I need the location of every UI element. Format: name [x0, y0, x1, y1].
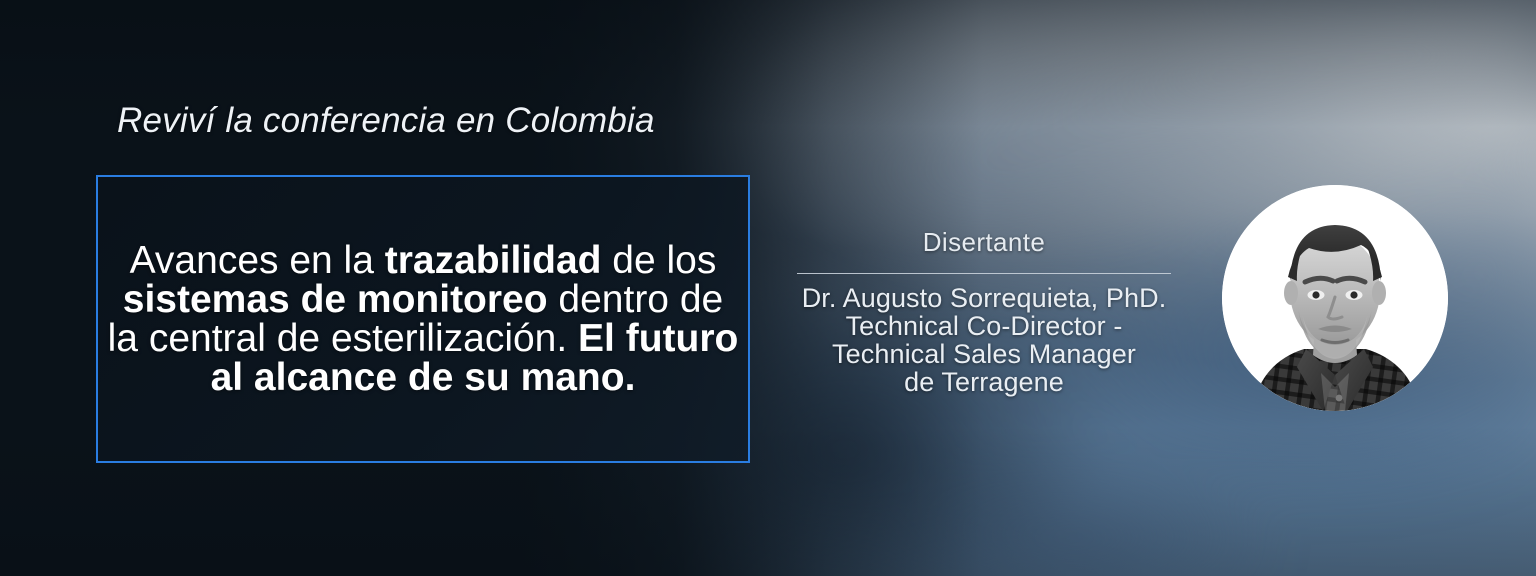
- speaker-divider: [797, 273, 1171, 274]
- speaker-details: Dr. Augusto Sorrequieta, PhD.Technical C…: [784, 284, 1184, 396]
- speaker-label: Disertante: [784, 228, 1184, 257]
- conference-banner: Reviví la conferencia en Colombia Avance…: [0, 0, 1536, 576]
- speaker-block: Disertante Dr. Augusto Sorrequieta, PhD.…: [784, 228, 1184, 396]
- portrait-illustration: [1222, 185, 1448, 411]
- kicker-text: Reviví la conferencia en Colombia: [117, 101, 655, 141]
- title-panel: Avances en la trazabilidad de los sistem…: [96, 175, 750, 463]
- title-text: Avances en la trazabilidad de los sistem…: [98, 241, 748, 397]
- speaker-portrait: [1222, 185, 1448, 411]
